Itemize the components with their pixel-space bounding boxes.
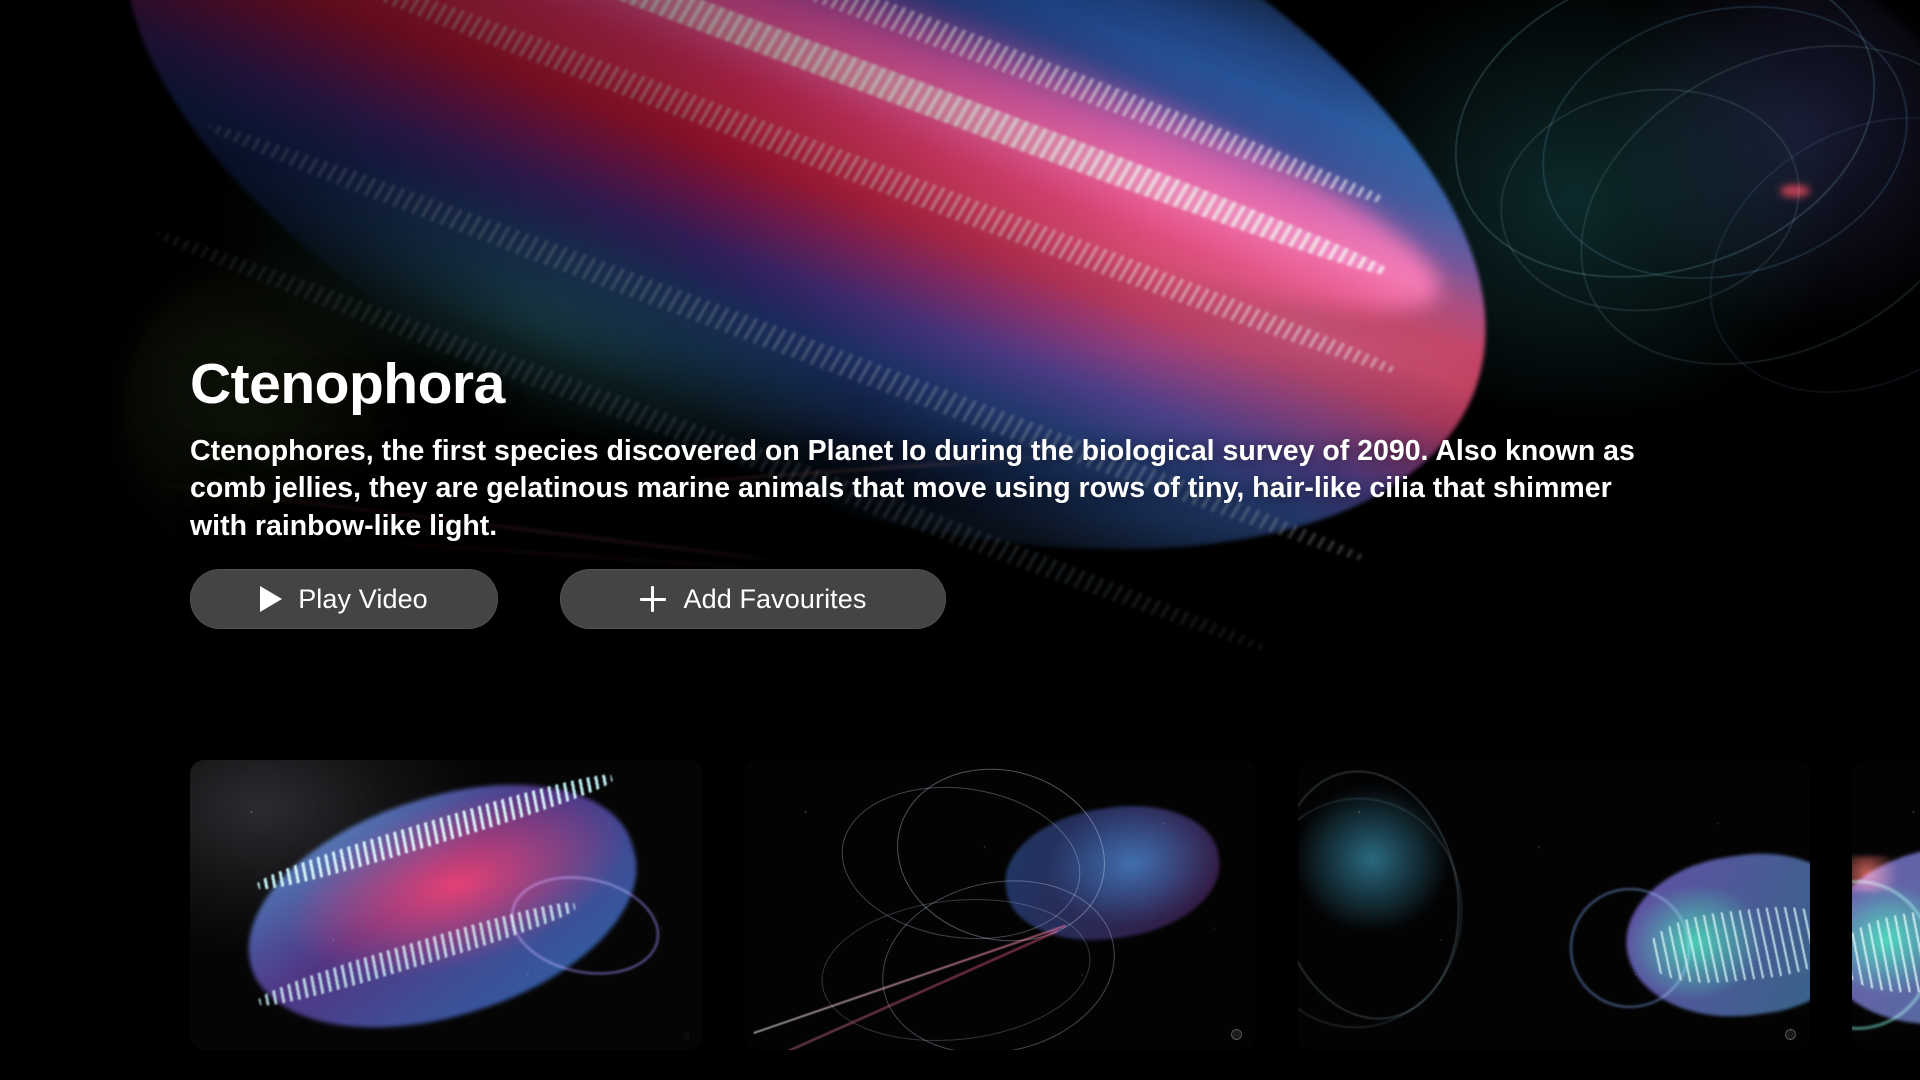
hero-section: Ctenophora Ctenophores, the first specie… (0, 0, 1920, 770)
play-video-label: Play Video (298, 584, 428, 615)
watermark-icon (1231, 1029, 1242, 1040)
thumbnail-carousel[interactable]: ⦙⦙ (0, 760, 1920, 1080)
thumbnail-card[interactable] (744, 760, 1256, 1050)
page-title: Ctenophora (190, 355, 1660, 415)
add-favourites-button[interactable]: Add Favourites (560, 569, 946, 629)
media-detail-page: Ctenophora Ctenophores, the first specie… (0, 0, 1920, 1080)
bioluminescent-sparks (1852, 856, 1916, 892)
hero-copy: Ctenophora Ctenophores, the first specie… (190, 355, 1660, 629)
play-video-button[interactable]: Play Video (190, 569, 498, 629)
red-highlight-dot (1780, 185, 1810, 197)
add-favourites-label: Add Favourites (684, 584, 867, 615)
thumbnail-card[interactable]: ⦙⦙ (190, 760, 702, 1050)
thumbnail-card[interactable] (1852, 760, 1920, 1050)
plus-icon (640, 586, 666, 612)
carousel-track[interactable]: ⦙⦙ (190, 760, 1920, 1050)
watermark: ⦙⦙ (684, 1031, 690, 1042)
hero-action-buttons: Play Video Add Favourites (190, 569, 1660, 629)
hero-description: Ctenophores, the first species discovere… (190, 433, 1635, 545)
play-icon (260, 586, 282, 612)
thumbnail-card[interactable] (1298, 760, 1810, 1050)
watermark-icon (1785, 1029, 1796, 1040)
